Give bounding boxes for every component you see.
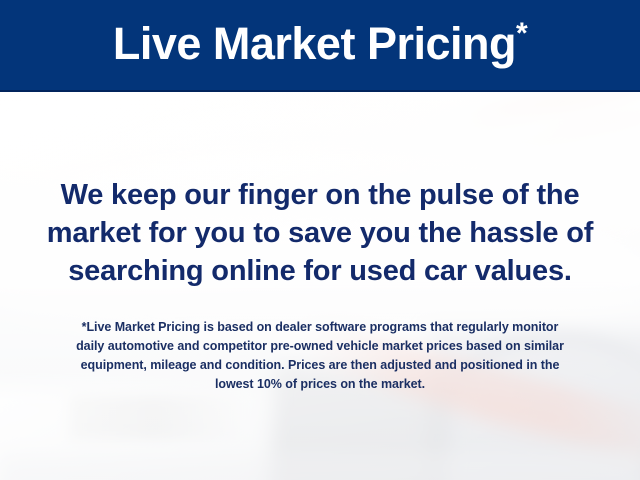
headline-line-3: searching online for used car values.	[0, 252, 640, 290]
headline-text-block: We keep our finger on the pulse of the m…	[0, 176, 640, 290]
page-title-text: Live Market Pricing	[113, 18, 516, 69]
page-title: Live Market Pricing*	[113, 21, 527, 70]
disclaimer-line-2: daily automotive and competitor pre-owne…	[20, 337, 620, 356]
disclaimer-line-4: lowest 10% of prices on the market.	[20, 375, 620, 394]
headline-line-1: We keep our finger on the pulse of the	[0, 176, 640, 214]
page-title-asterisk: *	[516, 17, 527, 50]
disclaimer-text-block: *Live Market Pricing is based on dealer …	[20, 318, 620, 394]
disclaimer-line-3: equipment, mileage and condition. Prices…	[20, 356, 620, 375]
header-banner: Live Market Pricing*	[0, 0, 640, 92]
headline-line-2: market for you to save you the hassle of	[0, 214, 640, 252]
disclaimer-line-1: *Live Market Pricing is based on dealer …	[20, 318, 620, 337]
live-market-pricing-promo-card: Live Market Pricing* We keep our finger …	[0, 0, 640, 480]
